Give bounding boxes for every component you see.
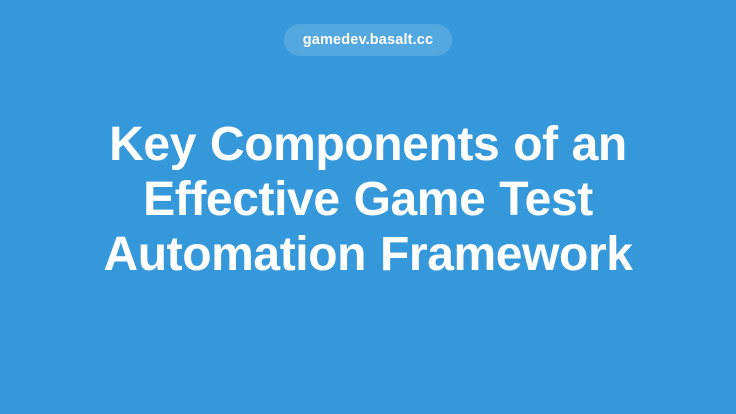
share-card: gamedev.basalt.cc Key Components of an E…	[0, 0, 736, 414]
headline-container: Key Components of an Effective Game Test…	[0, 0, 736, 414]
page-title: Key Components of an Effective Game Test…	[88, 117, 648, 282]
